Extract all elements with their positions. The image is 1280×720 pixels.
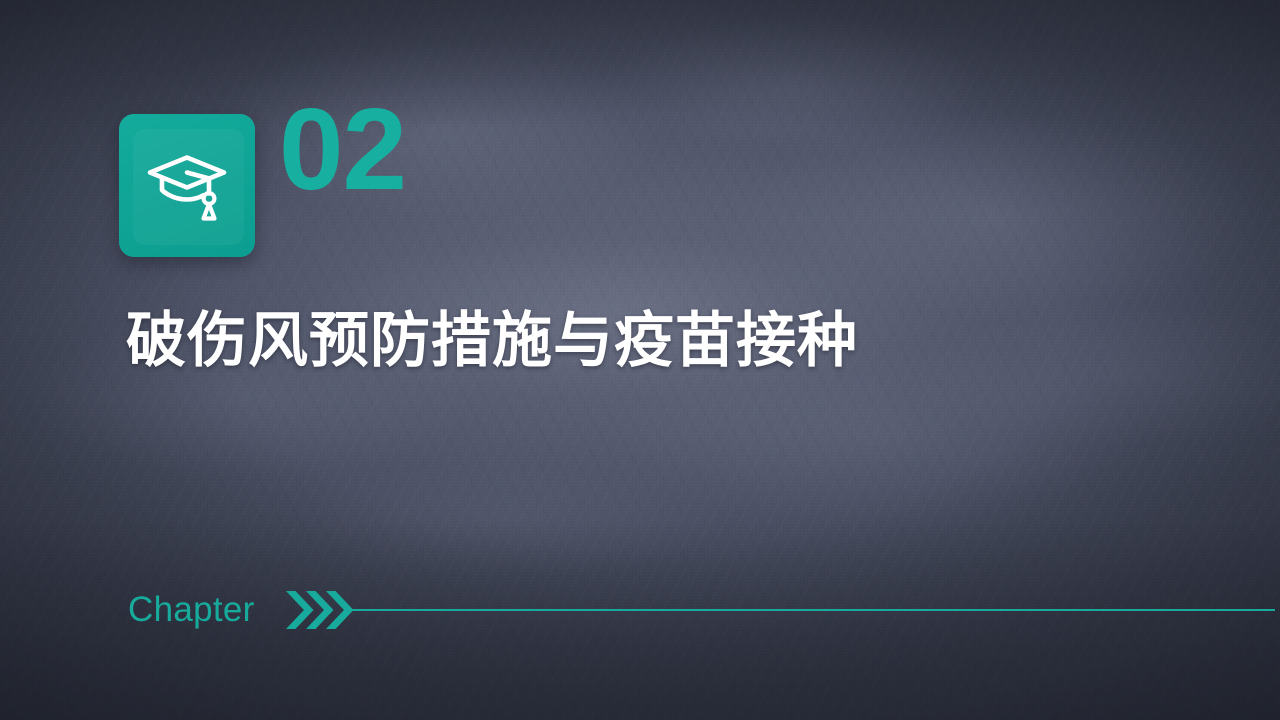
page-title: 破伤风预防措施与疫苗接种 [126,307,858,374]
section-divider-slide: 02 破伤风预防措施与疫苗接种 Chapter [0,0,1280,720]
chapter-label: Chapter [128,586,255,634]
chapter-footer: Chapter [0,586,1280,634]
graduation-cap-icon [119,114,255,257]
chapter-divider-line [352,609,1275,611]
chevron-right-icon [286,591,358,629]
section-number: 02 [279,91,406,207]
icon-badge [119,114,255,257]
